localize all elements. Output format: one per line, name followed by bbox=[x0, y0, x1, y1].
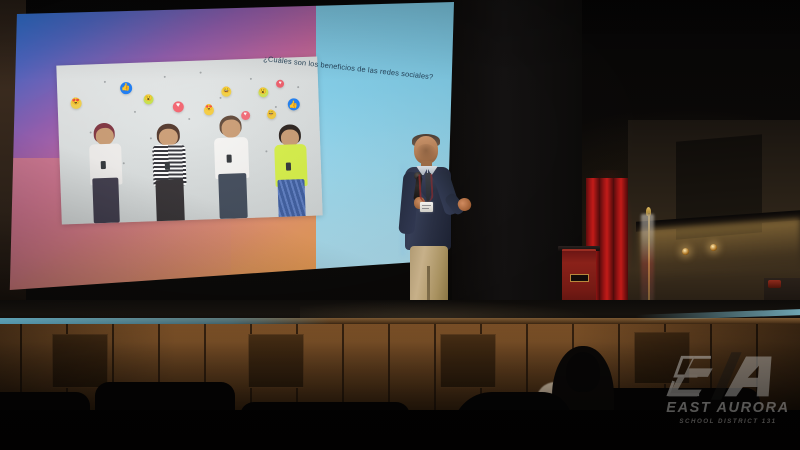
lanyard bbox=[418, 174, 433, 203]
photo-person bbox=[265, 56, 315, 216]
wow-emoji: 😮 bbox=[258, 86, 268, 96]
auditorium-presentation-photo: 😍👍😮♥😍😄😮♥♥😄👍 ¿Cuáles son los beneficios d… bbox=[0, 0, 800, 450]
heart-eyes-emoji-glyph: 😍 bbox=[72, 99, 81, 106]
audience-foreground-row bbox=[0, 410, 800, 450]
cabinet-red-object bbox=[768, 280, 781, 288]
thumbs-up-icon: 👍 bbox=[120, 82, 132, 94]
photo-person bbox=[205, 58, 257, 219]
thumbs-up-icon-glyph: 👍 bbox=[289, 100, 299, 108]
presenter-face-shadow bbox=[416, 144, 436, 160]
wall-speck bbox=[200, 71, 202, 73]
photo-person-bottom bbox=[92, 177, 120, 222]
photo-person-head bbox=[281, 128, 299, 146]
photo-person bbox=[143, 60, 195, 221]
photo-person-head bbox=[159, 128, 178, 146]
heart-eyes-emoji-glyph: 😍 bbox=[205, 106, 213, 112]
wall-speck bbox=[134, 110, 136, 112]
thumbs-up-icon-glyph: 👍 bbox=[121, 83, 131, 91]
slide-photo: 😍👍😮♥😍😄😮♥♥😄👍 bbox=[57, 56, 323, 224]
wall-sconce-icon bbox=[682, 248, 689, 255]
photo-person-head bbox=[96, 127, 114, 145]
podium-plaque bbox=[570, 274, 589, 282]
photo-person-bottom bbox=[218, 173, 248, 218]
flag bbox=[641, 214, 654, 304]
photo-person-bottom bbox=[156, 178, 186, 223]
thumbs-up-icon: 👍 bbox=[287, 98, 299, 110]
wall-sconce-icon bbox=[710, 244, 717, 251]
stage-floor-lit-area bbox=[300, 300, 600, 320]
heart-icon-glyph: ♥ bbox=[244, 112, 248, 118]
laugh-emoji-glyph: 😄 bbox=[268, 111, 275, 117]
photo-person-head bbox=[221, 119, 240, 137]
heart-icon: ♥ bbox=[173, 100, 184, 111]
heart-icon-glyph: ♥ bbox=[176, 102, 180, 109]
laugh-emoji-glyph: 😄 bbox=[223, 87, 231, 93]
heart-eyes-emoji: 😍 bbox=[204, 104, 214, 114]
smartphone-icon bbox=[165, 161, 170, 169]
smartphone-icon bbox=[101, 160, 106, 168]
wow-emoji: 😮 bbox=[144, 94, 154, 104]
heart-icon: ♥ bbox=[241, 111, 250, 120]
name-badge bbox=[420, 202, 433, 212]
photo-person-top bbox=[214, 136, 249, 178]
heart-icon-glyph: ♥ bbox=[279, 80, 282, 85]
wow-emoji-glyph: 😮 bbox=[260, 88, 268, 94]
wow-emoji-glyph: 😮 bbox=[145, 95, 153, 101]
